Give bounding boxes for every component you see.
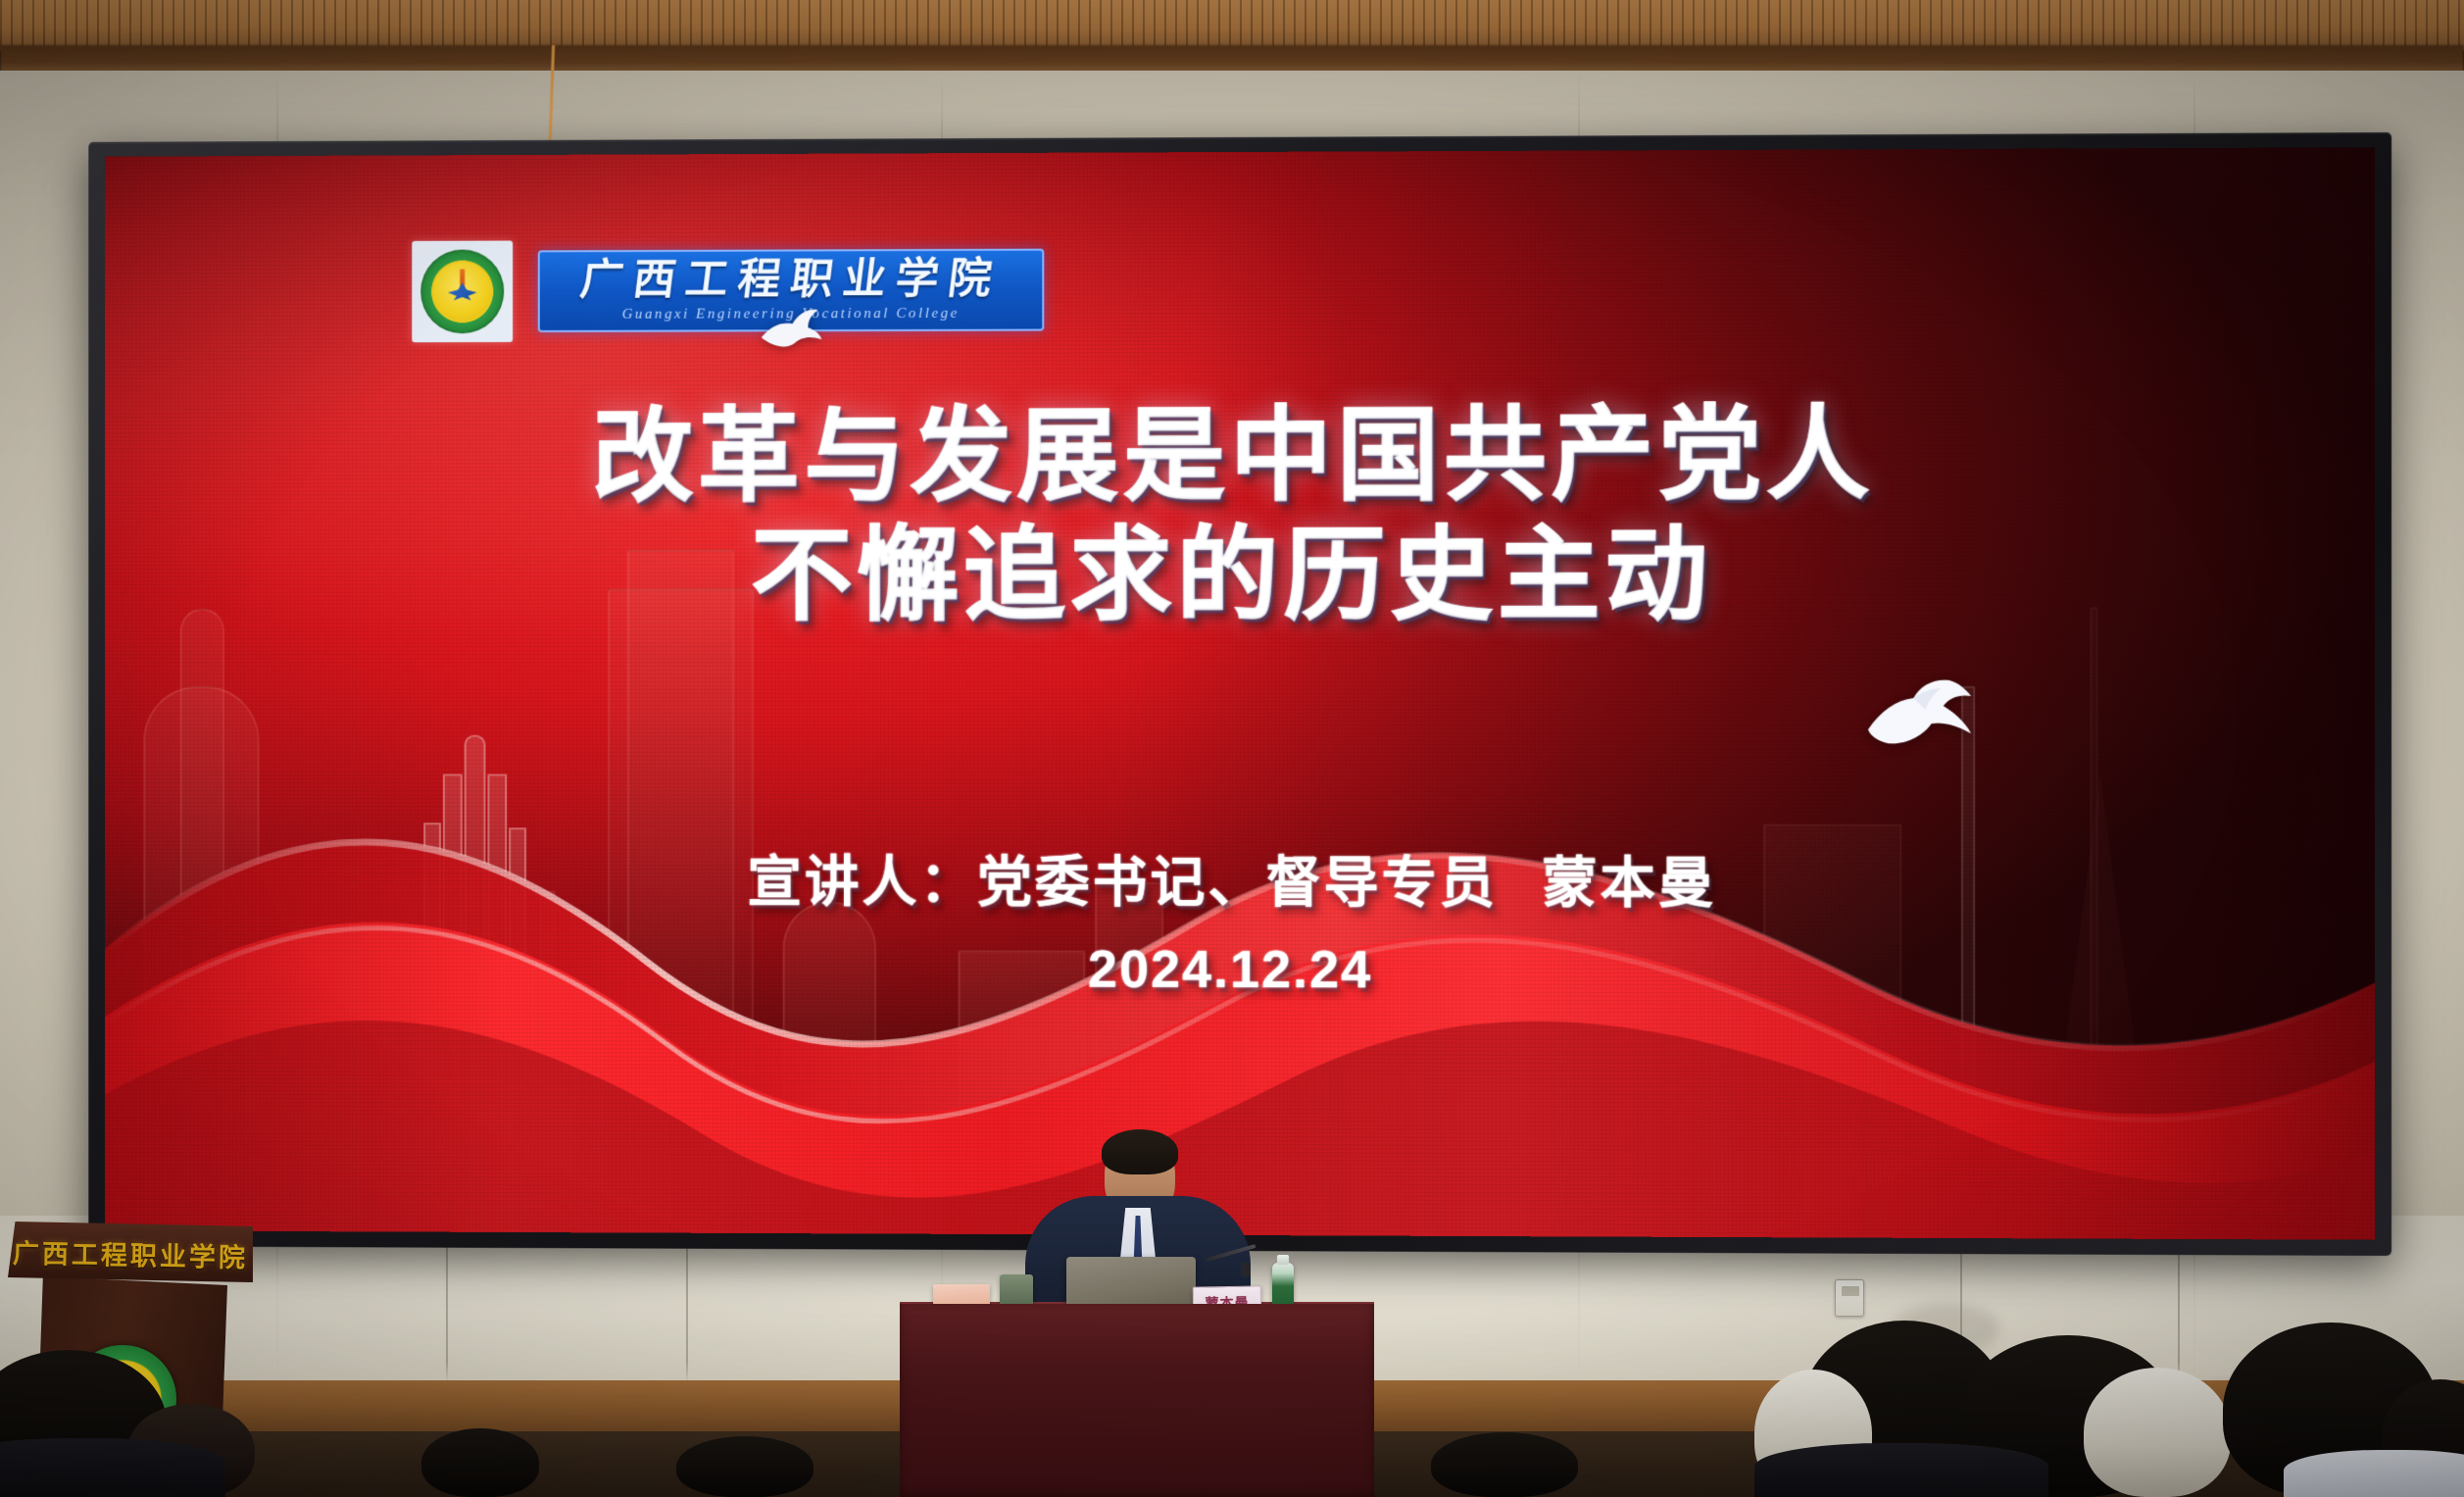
presenter-table-area: 蒙本曼	[882, 1118, 1392, 1497]
presenter-hair	[1102, 1129, 1178, 1174]
slide-speaker-line: 宣讲人：党委书记、督导专员 蒙本曼	[105, 837, 2375, 920]
college-name-cn: 广西工程职业学院	[578, 258, 1004, 302]
podium-sign-text: 广西工程职业学院	[13, 1231, 249, 1274]
audience-head	[1431, 1432, 1578, 1497]
tablecloth	[900, 1304, 1374, 1497]
audience-head	[2084, 1368, 2231, 1497]
microphone	[1206, 1247, 1257, 1276]
dove-icon	[754, 300, 827, 355]
screen-display-area: 广西工程职业学院 Guangxi Engineering Vocational …	[105, 147, 2375, 1240]
wood-slat-ceiling	[0, 0, 2464, 51]
podium-header-plate: 广西工程职业学院	[8, 1222, 253, 1282]
led-video-wall[interactable]: 广西工程职业学院 Guangxi Engineering Vocational …	[78, 137, 2382, 1251]
lecture-hall-photo: 广西工程职业学院 Guangxi Engineering Vocational …	[0, 0, 2464, 1497]
slide-title-line-2: 不懈追求的历史主动	[105, 515, 2375, 636]
slide-brand-block: 广西工程职业学院 Guangxi Engineering Vocational …	[412, 239, 1044, 343]
college-seal-icon	[412, 241, 513, 343]
slide-title: 改革与发展是中国共产党人 不懈追求的历史主动	[105, 394, 2375, 635]
audience-shoulder	[0, 1438, 225, 1497]
audience-head	[421, 1428, 539, 1497]
audience-shoulder	[1754, 1443, 2048, 1497]
slide-title-line-1: 改革与发展是中国共产党人	[105, 394, 2375, 518]
dove-icon	[1862, 676, 1981, 759]
slide-date: 2024.12.24	[105, 937, 2375, 1003]
slide-subtitle-block: 宣讲人：党委书记、督导专员 蒙本曼 2024.12.24	[105, 837, 2375, 1003]
audience-shoulder	[2284, 1450, 2464, 1497]
audience-head	[676, 1436, 813, 1497]
light-switch[interactable]	[1835, 1279, 1864, 1317]
